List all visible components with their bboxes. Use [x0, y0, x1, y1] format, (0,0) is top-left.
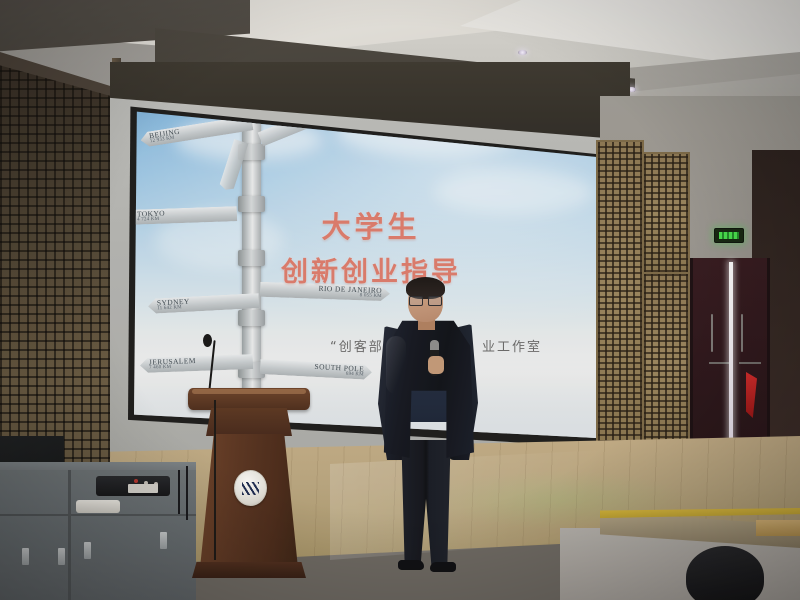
- speaker-hand: [428, 356, 444, 374]
- emergency-exit-sign: [714, 228, 744, 243]
- slide-subtitle-right: 业工作室: [482, 336, 542, 355]
- speaker-shoe: [398, 560, 424, 570]
- door-handle[interactable]: [741, 314, 743, 352]
- crest-wave-mark: [242, 482, 259, 495]
- podium-microphone-head: [203, 334, 212, 347]
- podium-neck: [206, 408, 292, 436]
- cabinet-divider: [68, 470, 71, 600]
- speaker-glasses-icon: [409, 296, 442, 304]
- podium-base: [192, 562, 306, 578]
- school-crest-icon: [234, 470, 267, 506]
- wooden-table: [756, 520, 800, 536]
- door-push-bar[interactable]: [709, 362, 731, 364]
- signpost-collar: [238, 310, 265, 326]
- glasses-lens: [428, 296, 442, 306]
- cabinet-drawer-handle[interactable]: [84, 542, 91, 559]
- mixer-label-plate: [128, 484, 158, 493]
- lecture-hall-photo: Beijing 12 933 KM Tokyo 4 724 KM Sydney …: [0, 0, 800, 600]
- right-wall-acoustic-panel: [596, 140, 644, 444]
- speaker-jacket-highlight: [386, 336, 406, 394]
- ceiling-downlight-icon: [518, 50, 527, 55]
- podium-cable: [214, 400, 216, 560]
- glasses-lens: [409, 296, 423, 306]
- right-wall-acoustic-panel: [642, 152, 690, 274]
- cabinet-drawer-handle[interactable]: [160, 532, 167, 549]
- slide-title-line2: 创新创业指导: [134, 250, 608, 289]
- slide-title-line1: 大学生: [134, 204, 608, 246]
- white-equipment-case: [76, 500, 120, 513]
- right-wall-acoustic-panel: [642, 272, 690, 452]
- cable: [178, 470, 180, 514]
- door-push-bar[interactable]: [739, 362, 761, 364]
- mixer-knob[interactable]: [134, 479, 138, 483]
- cabinet-drawer-handle[interactable]: [22, 548, 29, 565]
- cable: [186, 466, 188, 520]
- audience-member: [686, 546, 764, 600]
- cabinet-divider: [0, 514, 196, 516]
- cabinet-drawer-handle[interactable]: [58, 548, 65, 565]
- door-handle[interactable]: [711, 314, 713, 352]
- speaker-shoe: [430, 562, 456, 572]
- podium-desktop-highlight: [192, 389, 306, 394]
